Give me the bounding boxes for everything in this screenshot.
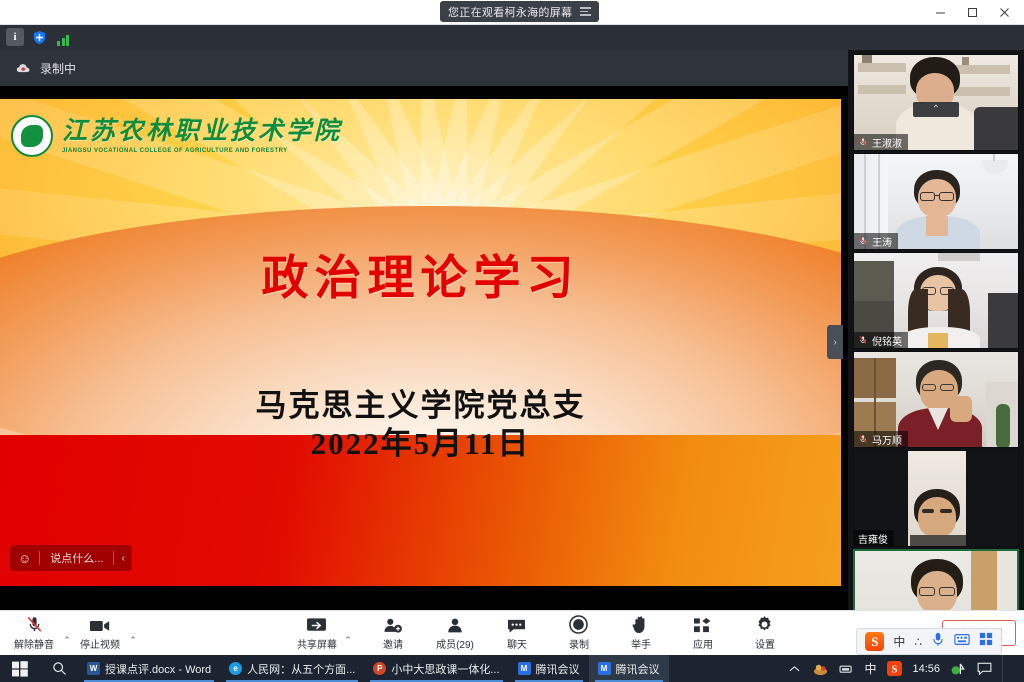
windows-start-icon[interactable] [0, 655, 40, 682]
taskbar-item-browser[interactable]: e 人民网：从五个方面... [220, 655, 364, 682]
windows-taskbar: W 授课点评.docx - Word e 人民网：从五个方面... P 小中大思… [0, 655, 1024, 682]
ime-mode-toggle[interactable]: 中 [893, 633, 905, 650]
taskbar-clock[interactable]: 14:56 [912, 663, 940, 675]
action-center-icon[interactable] [976, 661, 992, 677]
window-buttons [924, 0, 1020, 25]
shared-screen-stage[interactable]: 江苏农林职业技术学院 JIANGSU VOCATIONAL COLLEGE OF… [0, 86, 848, 610]
tencent-meeting-icon: M [598, 662, 611, 675]
taskbar-item-label: 小中大思政课一体化... [391, 661, 499, 677]
chevron-right-icon[interactable]: › [827, 325, 843, 359]
svg-text:S: S [892, 664, 898, 675]
show-desktop-button[interactable] [1002, 655, 1016, 682]
participant-name: 马万顺 [872, 432, 902, 447]
smiley-icon[interactable]: ☺ [10, 551, 39, 566]
participant-nameplate: 王涛 [854, 233, 898, 249]
invite-user-icon [383, 615, 403, 634]
invite-label: 邀请 [383, 636, 403, 651]
tray-network-icon[interactable] [838, 661, 854, 677]
participant-nameplate: 吉雍俊 [854, 530, 894, 546]
raise-hand-label: 举手 [631, 636, 651, 651]
taskbar-item-label: 授课点评.docx - Word [105, 661, 211, 677]
chat-label: 聊天 [507, 636, 527, 651]
quick-chat-input[interactable]: ☺ 说点什么... ‹ [10, 545, 132, 571]
ime-cn-icon[interactable]: 中 [864, 660, 876, 677]
participants-button[interactable]: 成员(29) [431, 611, 479, 655]
controls-center-group: 共享屏幕 ⌃ 邀请 [293, 611, 789, 655]
powerpoint-icon: P [373, 662, 386, 675]
audio-options-caret[interactable]: ⌃ [60, 611, 74, 655]
share-screen-icon [306, 615, 327, 634]
gear-icon [755, 615, 774, 634]
share-screen-button[interactable]: 共享屏幕 [293, 611, 341, 655]
cloud-record-icon [16, 62, 32, 75]
participant-tile[interactable]: 马万顺 [853, 351, 1019, 448]
word-icon: W [87, 662, 100, 675]
settings-label: 设置 [755, 636, 775, 651]
college-leaf-logo [11, 115, 53, 157]
recording-label: 录制中 [40, 60, 76, 77]
mic-muted-icon [858, 335, 868, 345]
participant-name: 吉雍俊 [858, 531, 888, 546]
participant-name: 王涛 [872, 234, 892, 249]
sogou-ime-toolbar[interactable]: S 中 ∴ [856, 628, 1002, 655]
close-button[interactable] [988, 1, 1020, 25]
settings-button[interactable]: 设置 [741, 611, 789, 655]
meeting-header-bar: i 正在讲话: 陈旭文: [0, 25, 1024, 50]
participant-name: 倪铭英 [872, 333, 902, 348]
shield-icon[interactable] [30, 28, 48, 46]
presentation-slide: 江苏农林职业技术学院 JIANGSU VOCATIONAL COLLEGE OF… [0, 99, 841, 586]
raise-hand-icon [632, 615, 649, 634]
recording-status-bar: 录制中 [0, 50, 848, 86]
college-name-cn: 江苏农林职业技术学院 [62, 119, 342, 144]
slide-subtitle-line1: 马克思主义学院党总支 [0, 387, 841, 425]
chat-bubble-icon [506, 615, 527, 634]
controls-left-group: 解除静音 ⌃ 停止视频 ⌃ [0, 611, 140, 655]
ime-punctuation-icon[interactable]: ∴ [914, 635, 922, 649]
stop-video-label: 停止视频 [80, 636, 120, 651]
participants-label: 成员(29) [436, 636, 474, 651]
info-icon[interactable]: i [6, 28, 24, 46]
record-circle-icon [569, 615, 588, 634]
college-logo-row: 江苏农林职业技术学院 JIANGSU VOCATIONAL COLLEGE OF… [11, 115, 342, 157]
taskbar-item-word[interactable]: W 授课点评.docx - Word [78, 655, 220, 682]
taskbar-item-label: 腾讯会议 [616, 661, 660, 677]
chevron-left-icon[interactable]: ‹ [114, 553, 131, 564]
taskbar-item-label: 腾讯会议 [536, 661, 580, 677]
list-icon[interactable] [580, 7, 591, 16]
taskbar-item-tencent-meeting[interactable]: M 腾讯会议 [509, 655, 589, 682]
ime-keyboard-icon[interactable] [954, 633, 970, 651]
quick-chat-placeholder: 说点什么... [40, 550, 113, 566]
sogou-icon[interactable]: S [865, 632, 884, 651]
participant-tile[interactable]: 王涛 [853, 153, 1019, 250]
tray-extra-icon[interactable] [950, 661, 966, 677]
participant-nameplate: 倪铭英 [854, 332, 908, 348]
share-screen-label: 共享屏幕 [297, 636, 337, 651]
participant-tile[interactable]: 倪铭英 [853, 252, 1019, 349]
apps-button[interactable]: 应用 [679, 611, 727, 655]
raise-hand-button[interactable]: 举手 [617, 611, 665, 655]
sogou-icon[interactable]: S [886, 661, 902, 677]
record-label: 录制 [569, 636, 589, 651]
meeting-app-window: 您正在观看柯永海的屏幕 i [0, 0, 1024, 682]
maximize-button[interactable] [956, 1, 988, 25]
tencent-meeting-icon: M [518, 662, 531, 675]
unmute-button[interactable]: 解除静音 [10, 611, 58, 655]
taskbar-item-tencent-meeting-active[interactable]: M 腾讯会议 [589, 655, 669, 682]
tray-app-icon[interactable] [812, 661, 828, 677]
participant-nameplate: 王淑淑 [854, 134, 908, 150]
participant-name: 王淑淑 [872, 135, 902, 150]
chat-button[interactable]: 聊天 [493, 611, 541, 655]
apps-grid-icon [693, 615, 712, 634]
participant-video-rail[interactable]: ⌃ ⌄ 王淑淑 [848, 50, 1024, 610]
share-status-tooltip: 您正在观看柯永海的屏幕 [440, 1, 599, 22]
slide-subtitle-line2: 2022年5月11日 [0, 425, 841, 463]
mic-muted-icon [858, 137, 868, 147]
taskbar-item-powerpoint[interactable]: P 小中大思政课一体化... [364, 655, 508, 682]
minimize-button[interactable] [924, 1, 956, 25]
taskbar-tray: 中 S 14:56 [786, 655, 1024, 682]
taskbar-item-label: 人民网：从五个方面... [247, 661, 355, 677]
record-button[interactable]: 录制 [555, 611, 603, 655]
share-tooltip-text: 您正在观看柯永海的屏幕 [448, 4, 572, 20]
meeting-header-icons: i [6, 28, 72, 46]
apps-label: 应用 [693, 636, 713, 651]
unmute-label: 解除静音 [14, 636, 54, 651]
ime-voice-icon[interactable] [931, 631, 945, 652]
mic-muted-icon [858, 434, 868, 444]
slide-title: 政治理论学习 [0, 239, 841, 308]
participant-nameplate: 马万顺 [854, 431, 908, 447]
invite-button[interactable]: 邀请 [369, 611, 417, 655]
participant-tile[interactable]: 吉雍俊 [853, 450, 1019, 547]
participant-tile[interactable] [853, 549, 1019, 610]
edge-icon: e [229, 662, 242, 675]
search-icon[interactable] [40, 655, 78, 682]
window-title-bar: 您正在观看柯永海的屏幕 [0, 0, 1024, 25]
stop-video-button[interactable]: 停止视频 [76, 611, 124, 655]
ime-apps-icon[interactable] [979, 632, 993, 651]
college-name-en: JIANGSU VOCATIONAL COLLEGE OF AGRICULTUR… [62, 148, 342, 154]
chevron-up-icon[interactable]: ⌃ [913, 102, 959, 117]
chevron-up-icon[interactable] [786, 661, 802, 677]
mic-muted-icon [25, 615, 44, 634]
mic-muted-icon [858, 236, 868, 246]
signal-bars-icon[interactable] [54, 28, 72, 46]
slide-subtitle: 马克思主义学院党总支 2022年5月11日 [0, 387, 841, 463]
share-options-caret[interactable]: ⌃ [341, 611, 355, 655]
camera-icon [89, 615, 111, 634]
video-options-caret[interactable]: ⌃ [126, 611, 140, 655]
participants-icon [445, 615, 465, 634]
